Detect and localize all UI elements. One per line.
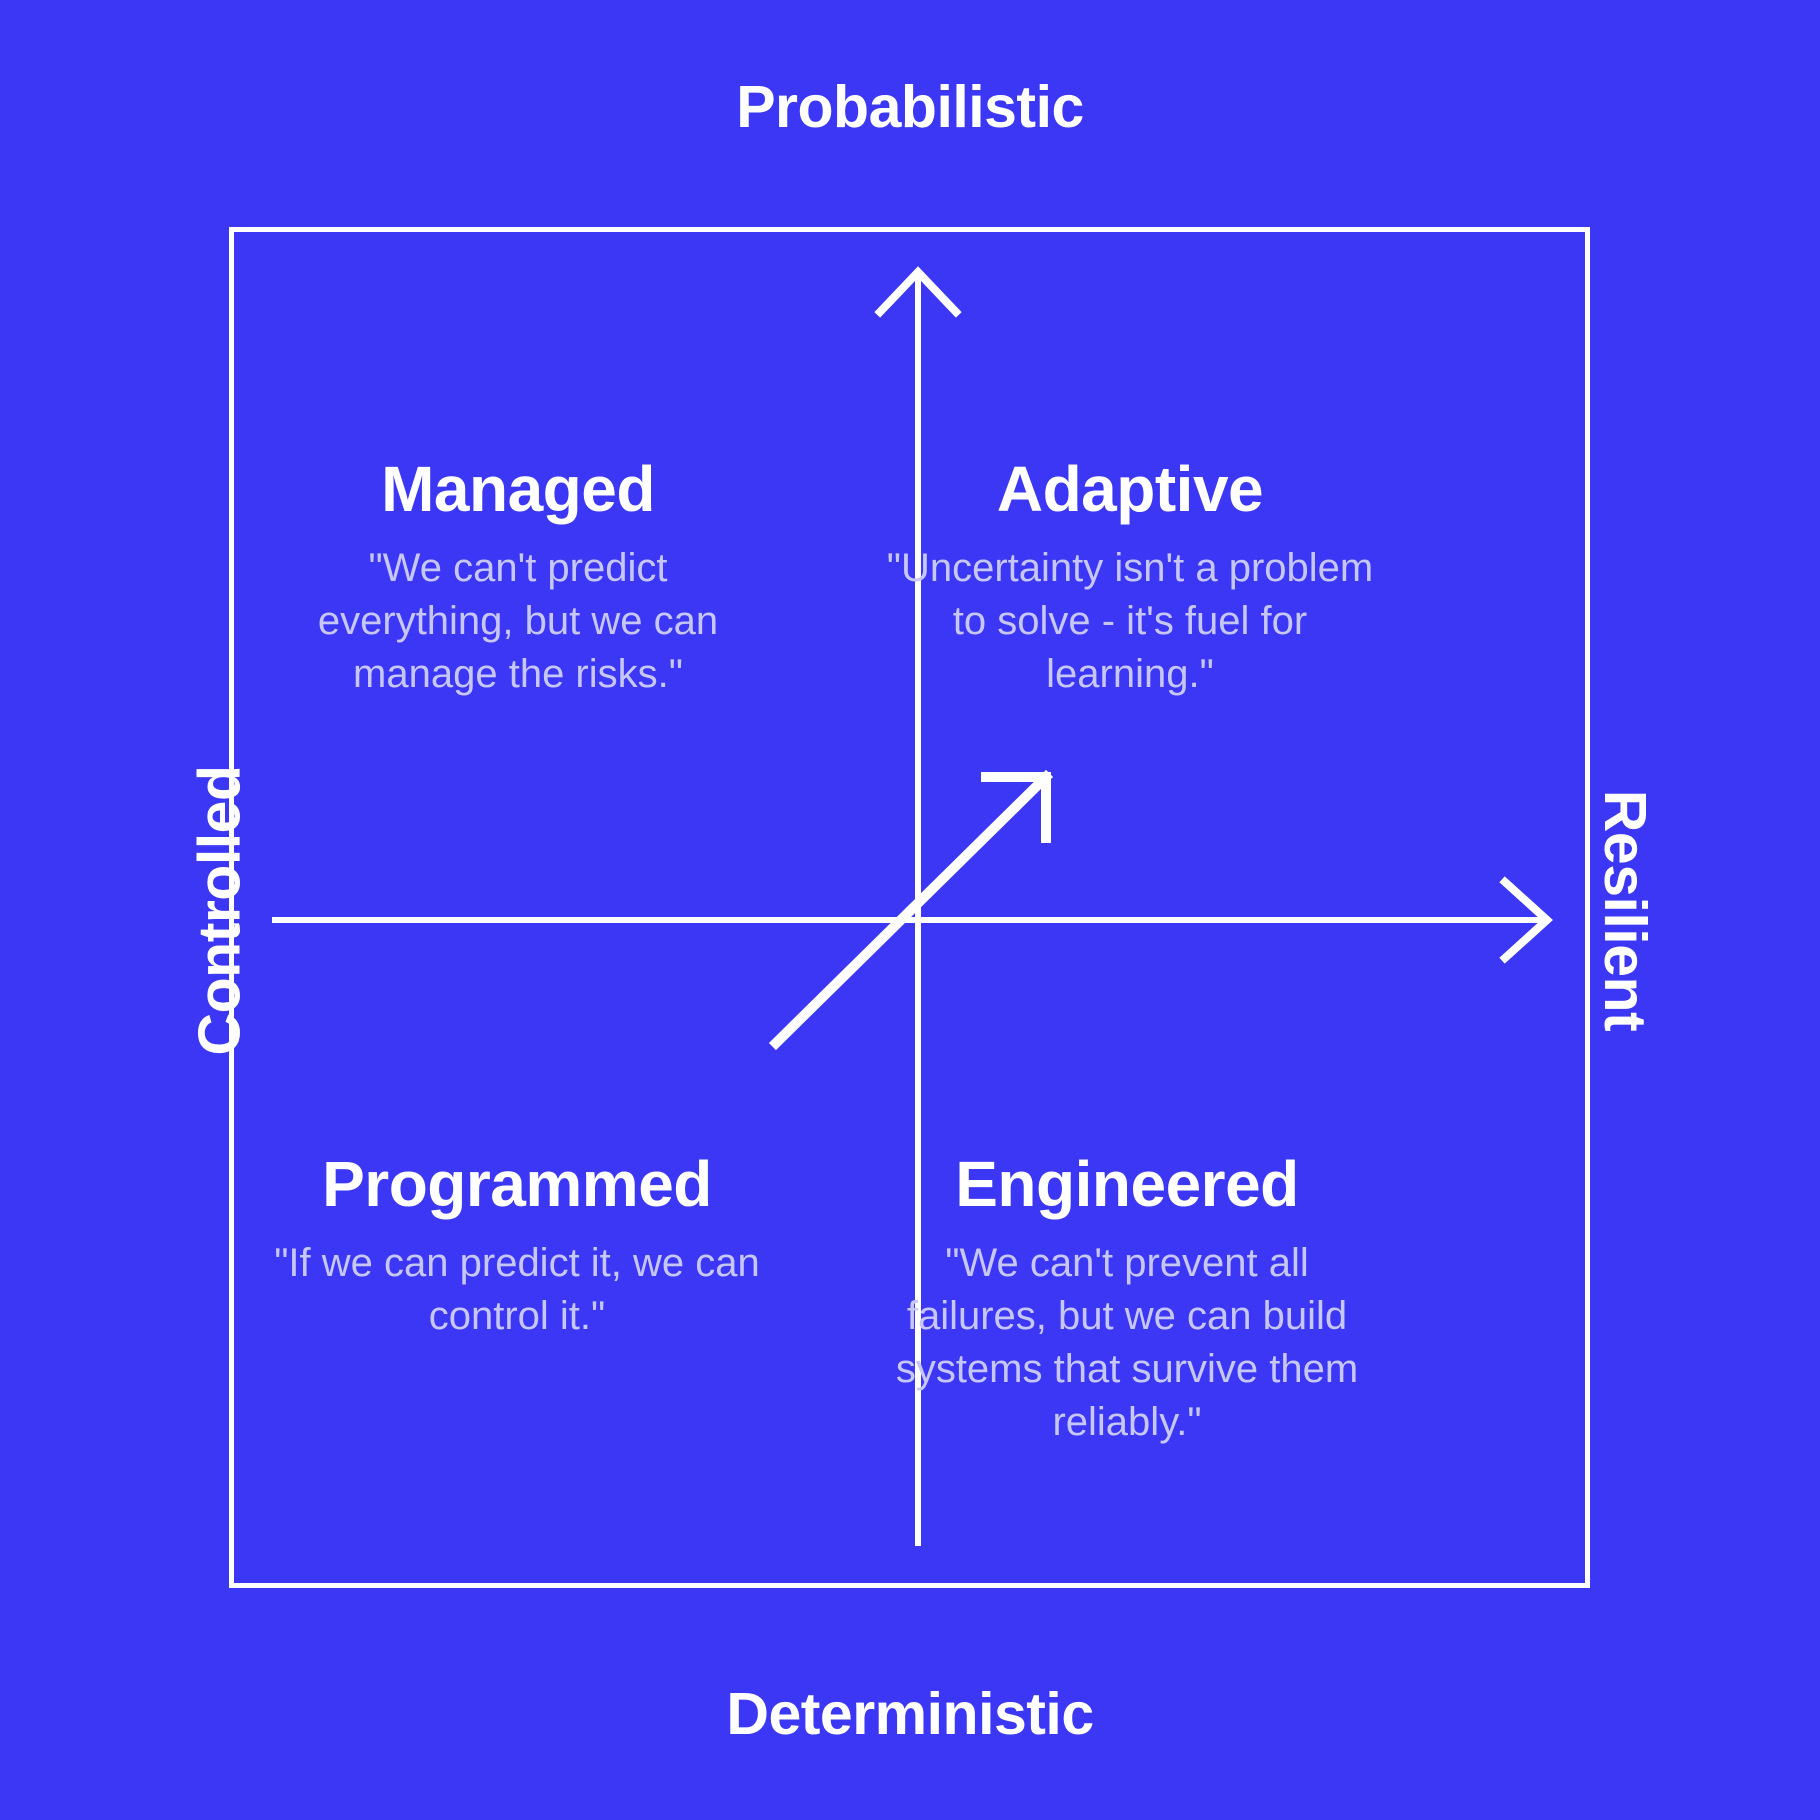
quadrant-engineered: Engineered "We can't prevent all failure…	[872, 1150, 1382, 1448]
quadrant-programmed-quote: "If we can predict it, we can control it…	[262, 1237, 772, 1343]
quadrant-engineered-quote: "We can't prevent all failures, but we c…	[872, 1237, 1382, 1448]
quadrant-diagram-canvas: Probabilistic Deterministic Controlled R…	[0, 0, 1820, 1820]
quadrant-programmed-title: Programmed	[322, 1150, 712, 1219]
quadrant-managed-quote: "We can't predict everything, but we can…	[268, 542, 768, 700]
axis-label-right: Resilient	[1595, 789, 1654, 1030]
quadrant-programmed: Programmed "If we can predict it, we can…	[262, 1150, 772, 1343]
quadrant-managed-title: Managed	[381, 455, 655, 524]
quadrant-managed: Managed "We can't predict everything, bu…	[268, 455, 768, 701]
quadrant-adaptive-quote: "Uncertainty isn't a problem to solve - …	[880, 542, 1380, 700]
axis-label-bottom: Deterministic	[0, 1685, 1820, 1744]
quadrant-adaptive-title: Adaptive	[997, 455, 1263, 524]
quadrant-engineered-title: Engineered	[955, 1150, 1299, 1219]
quadrant-adaptive: Adaptive "Uncertainty isn't a problem to…	[880, 455, 1380, 701]
axis-label-top: Probabilistic	[0, 78, 1820, 137]
